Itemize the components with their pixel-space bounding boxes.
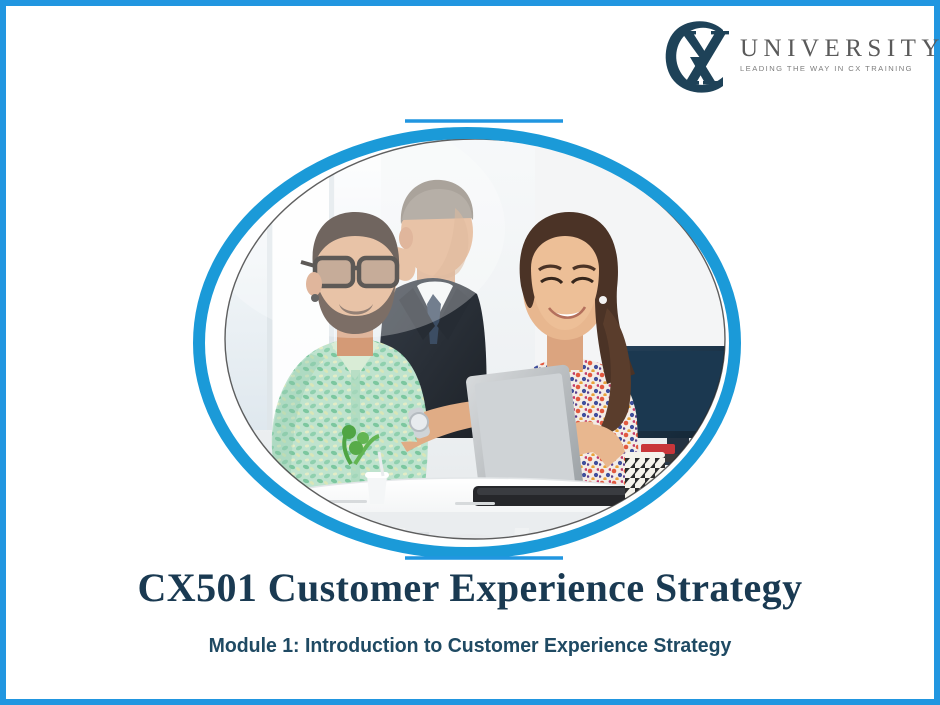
presentation-slide: UNIVERSITY LEADING THE WAY IN CX TRAININ… [0, 0, 940, 705]
photo-laptop [473, 486, 633, 506]
photo-eyeglasses [671, 488, 718, 500]
hero-photo-ellipse [155, 108, 795, 570]
logo-tagline-text: LEADING THE WAY IN CX TRAINING [740, 65, 940, 73]
cx-university-logo: UNIVERSITY LEADING THE WAY IN CX TRAININ… [660, 14, 910, 100]
page-subtitle: Module 1: Introduction to Customer Exper… [24, 634, 917, 659]
photo-plant-right [735, 380, 791, 459]
logo-university-text: UNIVERSITY [740, 36, 940, 61]
logo-wordmark-group: UNIVERSITY LEADING THE WAY IN CX TRAININ… [740, 36, 940, 79]
page-title: CX501 Customer Experience Strategy [0, 566, 940, 610]
cx-monogram-icon [660, 17, 738, 97]
